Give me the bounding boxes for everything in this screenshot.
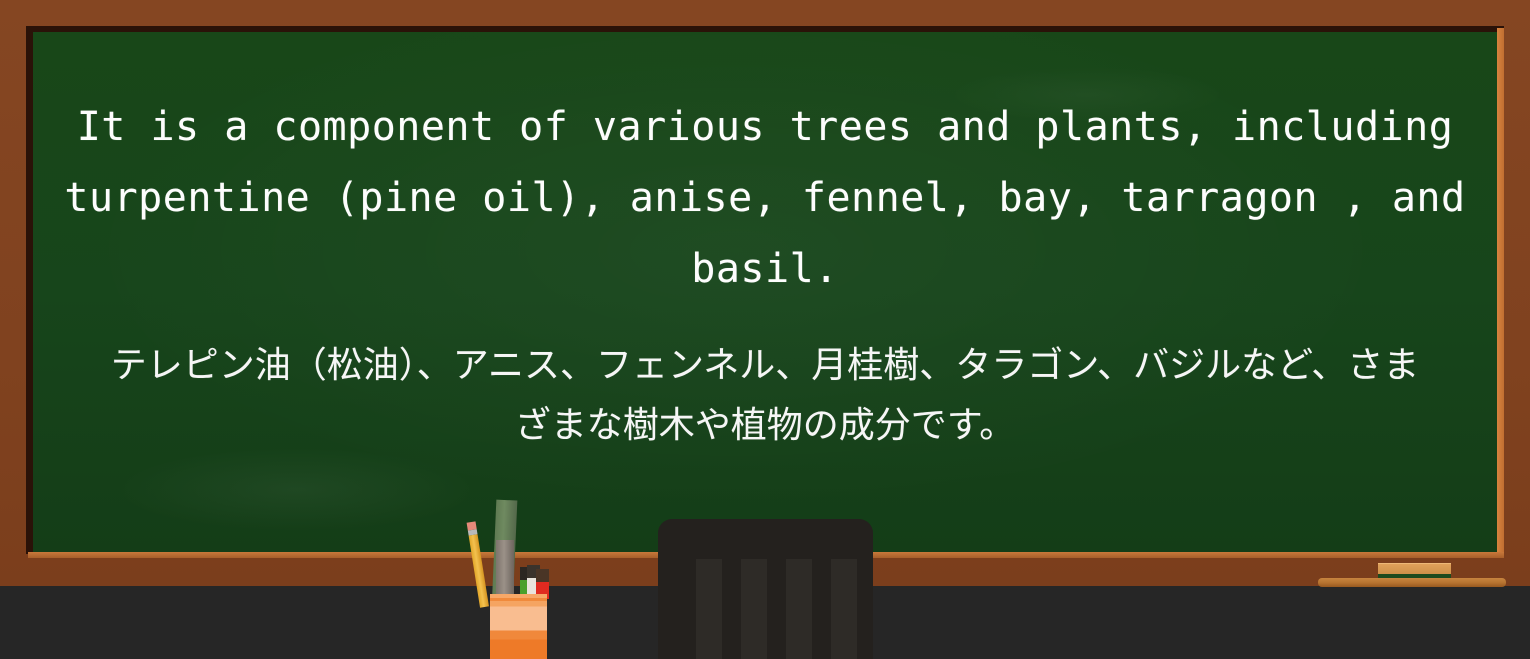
chair-slat-gap <box>786 559 812 659</box>
pencil-body <box>469 534 489 608</box>
pencil-cup-rim <box>490 594 547 598</box>
chair-slat-gap <box>741 559 767 659</box>
marker-cap <box>536 569 549 582</box>
chalk-ledge <box>1318 578 1506 587</box>
frame-highlight-right <box>1497 28 1504 556</box>
chair-slat-gap <box>696 559 722 659</box>
chalkboard-surface <box>33 32 1497 552</box>
chalkboard-scene: It is a component of various trees and p… <box>0 0 1530 659</box>
pencil-cup-icon <box>490 594 547 659</box>
desk-supplies-group <box>470 495 590 659</box>
chalkboard-eraser-icon <box>1378 563 1451 578</box>
eraser-felt <box>1378 574 1451 578</box>
chalkboard-frame <box>0 0 1530 586</box>
chair-slat-gap <box>831 559 857 659</box>
chair-icon <box>658 519 873 659</box>
pencil-icon <box>467 521 489 607</box>
